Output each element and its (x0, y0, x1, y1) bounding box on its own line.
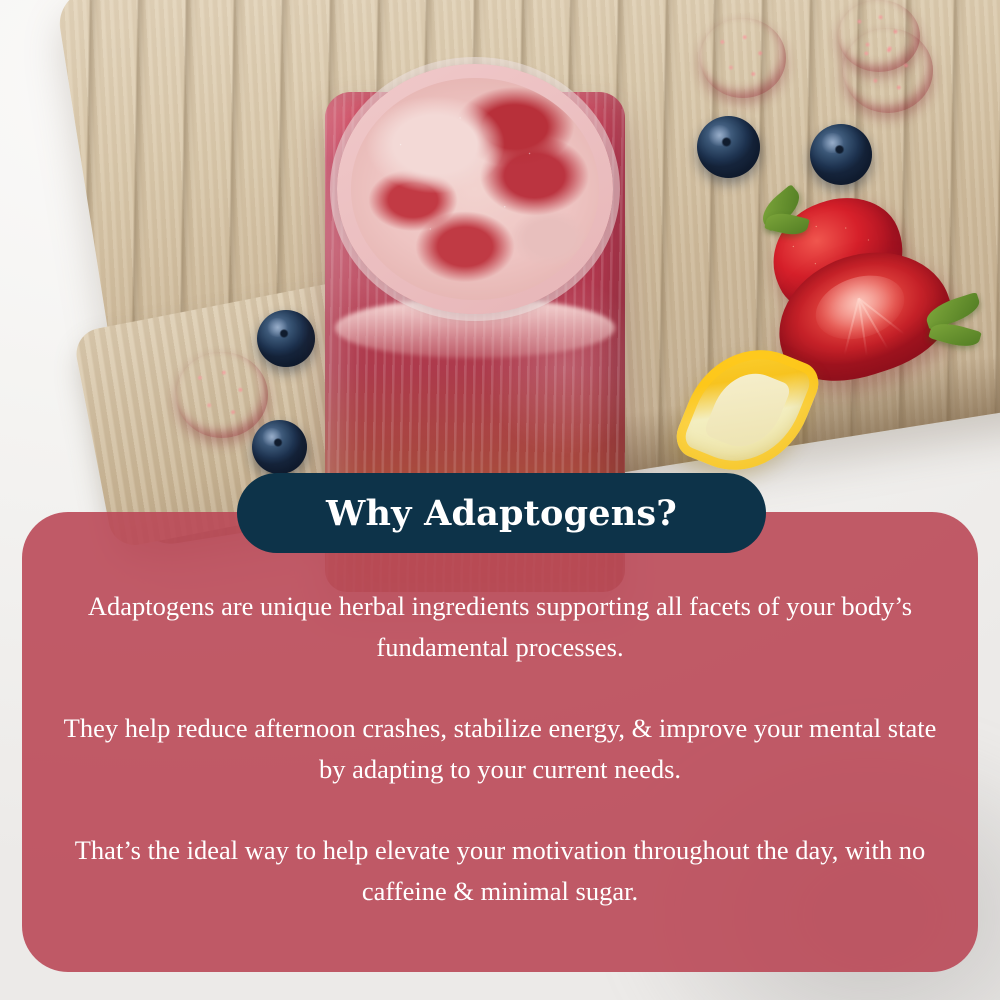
blueberry-highlight (707, 125, 732, 146)
blueberry-left-lower (252, 420, 307, 474)
raspberry-top-left (700, 18, 786, 98)
title-pill: Why Adaptogens? (237, 473, 766, 553)
page-title: Why Adaptogens? (326, 496, 677, 531)
body-paragraph-2: They help reduce afternoon crashes, stab… (60, 708, 940, 790)
raspberry-left (176, 352, 268, 438)
raspberry-drupelets (176, 352, 268, 438)
blueberry-highlight (266, 318, 289, 337)
blueberry-highlight (261, 428, 283, 446)
raspberry-drupelets (843, 28, 933, 113)
body-copy: Adaptogens are unique herbal ingredients… (60, 586, 940, 912)
raspberry-top-right (843, 28, 933, 113)
marketing-card: Why Adaptogens? Adaptogens are unique he… (0, 0, 1000, 1000)
blueberry-left-upper (257, 310, 315, 367)
blueberry-highlight (820, 133, 845, 154)
body-paragraph-3: That’s the ideal way to help elevate you… (60, 830, 940, 912)
drink-foam-bubbles (351, 78, 599, 300)
body-paragraph-1: Adaptogens are unique herbal ingredients… (60, 586, 940, 668)
raspberry-drupelets (700, 18, 786, 98)
blueberry-board-right (810, 124, 872, 185)
blueberry-board-left (697, 116, 760, 178)
